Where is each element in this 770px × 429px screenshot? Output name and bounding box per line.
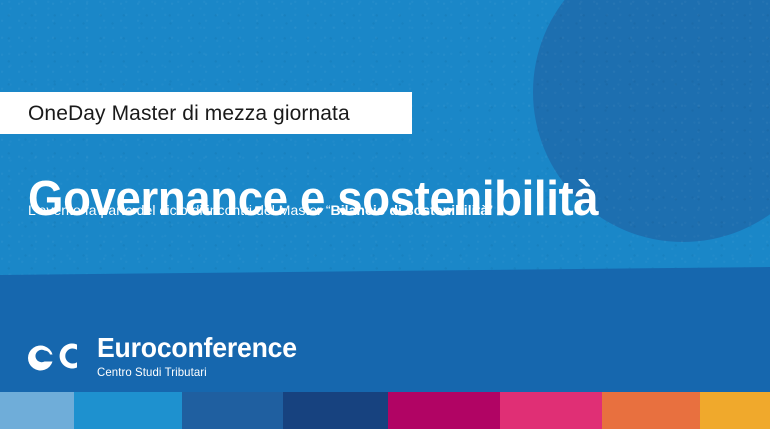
subtitle-suffix: ” bbox=[488, 202, 493, 218]
color-strip-segment-magenta bbox=[388, 392, 500, 429]
eyebrow-badge: OneDay Master di mezza giornata bbox=[0, 92, 412, 134]
color-strip-segment-navy bbox=[283, 392, 388, 429]
brand-color-strip bbox=[0, 392, 770, 429]
color-strip-segment-pink bbox=[500, 392, 602, 429]
subtitle-prefix: L'evento fa parte del ciclo di incontri … bbox=[28, 202, 331, 218]
logo-wordmark: Euroconference Centro Studi Tributari bbox=[97, 334, 307, 378]
subtitle-emphasis: Bilancio di sostenibilità bbox=[331, 202, 489, 218]
logo-tagline: Centro Studi Tributari bbox=[97, 366, 297, 378]
euroconference-logo[interactable]: Euroconference Centro Studi Tributari bbox=[27, 334, 307, 378]
event-banner: OneDay Master di mezza giornata Governan… bbox=[0, 0, 770, 429]
color-strip-segment-orange bbox=[602, 392, 700, 429]
color-strip-segment-amber bbox=[700, 392, 770, 429]
color-strip-segment-azure bbox=[74, 392, 182, 429]
ec-monogram-icon bbox=[27, 334, 87, 378]
logo-name: Euroconference bbox=[97, 334, 297, 362]
color-strip-segment-steel-blue bbox=[182, 392, 283, 429]
color-strip-segment-light-blue bbox=[0, 392, 74, 429]
subtitle: L'evento fa parte del ciclo di incontri … bbox=[28, 202, 493, 218]
eyebrow-label: OneDay Master di mezza giornata bbox=[28, 103, 350, 124]
